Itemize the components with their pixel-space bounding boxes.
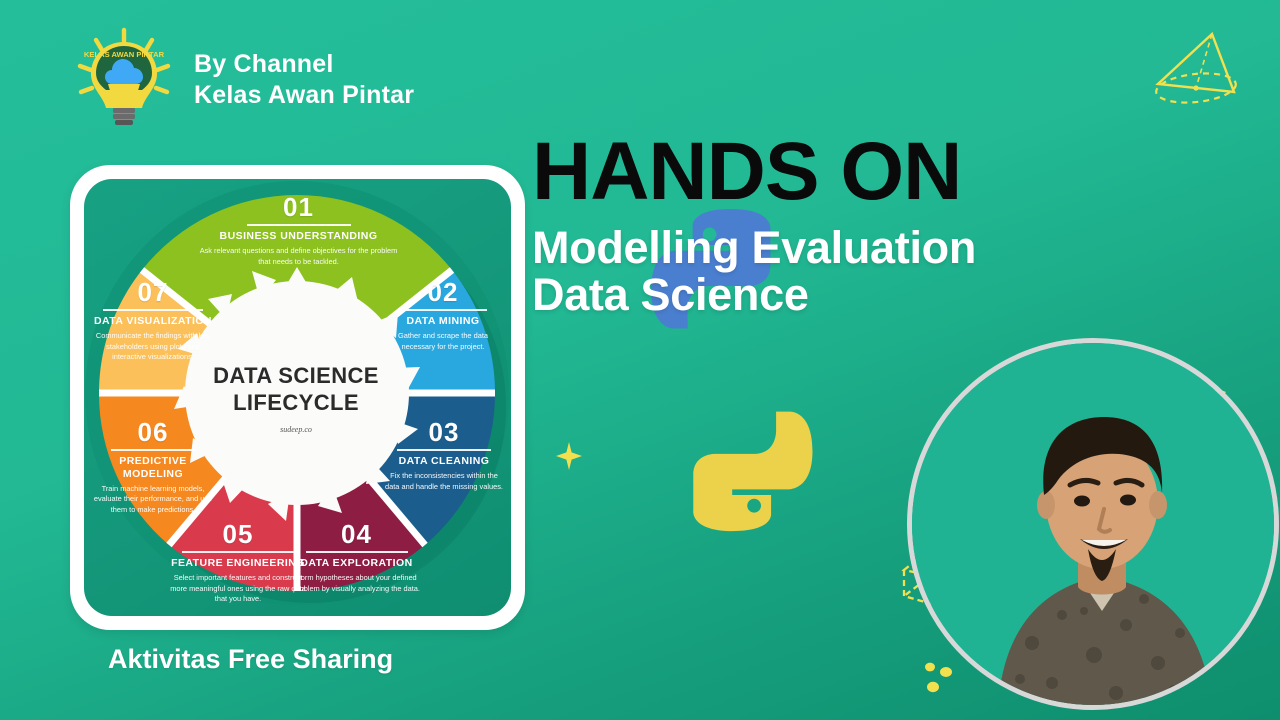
segment-description: Train machine learning models, evaluate … — [92, 484, 214, 516]
brand-line-1: By Channel — [194, 49, 414, 81]
yellow-dots-icon — [922, 660, 960, 696]
lifecycle-hub: DATA SCIENCE LIFECYCLE sudeep.co — [197, 312, 395, 484]
lifecycle-segment-05: 05 FEATURE ENGINEERING Select important … — [167, 521, 309, 605]
wireframe-cone-icon — [1142, 22, 1246, 130]
segment-divider — [399, 309, 487, 311]
segment-title: DATA MINING — [384, 315, 502, 328]
segment-divider — [103, 309, 203, 311]
segment-description: Select important features and construct … — [167, 573, 309, 605]
activity-caption: Aktivitas Free Sharing — [108, 644, 393, 675]
segment-number: 06 — [92, 419, 214, 445]
avatar — [912, 343, 1274, 705]
segment-title: FEATURE ENGINEERING — [167, 557, 309, 570]
segment-number: 04 — [289, 521, 424, 547]
segment-divider — [247, 224, 351, 226]
segment-description: Ask relevant questions and define object… — [196, 246, 401, 267]
infographic-inner-panel: 01 BUSINESS UNDERSTANDING Ask relevant q… — [84, 179, 511, 616]
segment-title: PREDICTIVE MODELING — [92, 455, 214, 481]
headline-main: HANDS ON — [532, 133, 1222, 212]
segment-description: Gather and scrape the data necessary for… — [384, 331, 502, 352]
headline-sub-line-1: Modelling Evaluation — [532, 224, 1222, 271]
segment-number: 01 — [196, 194, 401, 220]
lifecycle-segment-04: 04 DATA EXPLORATION Form hypotheses abou… — [289, 521, 424, 594]
segment-description: Fix the inconsistencies within the data … — [384, 471, 504, 492]
lifecycle-wheel: 01 BUSINESS UNDERSTANDING Ask relevant q… — [84, 179, 511, 616]
channel-branding: KELAS AWAN PINTAR By Channel Kelas Awan … — [72, 26, 414, 134]
hub-title-line-1: DATA SCIENCE — [213, 362, 379, 389]
segment-number: 05 — [167, 521, 309, 547]
hub-title-line-2: LIFECYCLE — [233, 389, 359, 416]
segment-title: BUSINESS UNDERSTANDING — [196, 230, 401, 243]
segment-number: 07 — [89, 279, 217, 305]
lifecycle-segment-06: 06 PREDICTIVE MODELING Train machine lea… — [92, 419, 214, 516]
segment-description: Form hypotheses about your defined probl… — [289, 573, 424, 594]
segment-divider — [306, 551, 408, 553]
lifecycle-segment-02: 02 DATA MINING Gather and scrape the dat… — [384, 279, 502, 352]
segment-divider — [111, 449, 195, 451]
presenter-photo-avatar — [912, 343, 1274, 705]
lifecycle-segment-03: 03 DATA CLEANING Fix the inconsistencies… — [384, 419, 504, 492]
headline-block: HANDS ON Modelling Evaluation Data Scien… — [532, 133, 1222, 318]
segment-divider — [397, 449, 491, 451]
hub-credit: sudeep.co — [280, 425, 312, 434]
headline-subtitle: Modelling Evaluation Data Science — [532, 224, 1222, 319]
headline-sub-line-2: Data Science — [532, 271, 1222, 318]
segment-number: 02 — [384, 279, 502, 305]
segment-number: 03 — [384, 419, 504, 445]
segment-divider — [182, 551, 294, 553]
data-science-lifecycle-card: 01 BUSINESS UNDERSTANDING Ask relevant q… — [70, 165, 525, 630]
lightbulb-cloud-logo-icon: KELAS AWAN PINTAR — [72, 26, 176, 134]
logo-ring-label: KELAS AWAN PINTAR — [84, 50, 165, 59]
slide-canvas: KELAS AWAN PINTAR By Channel Kelas Awan … — [0, 0, 1280, 720]
segment-title: DATA EXPLORATION — [289, 557, 424, 570]
segment-title: DATA CLEANING — [384, 455, 504, 468]
lifecycle-segment-01: 01 BUSINESS UNDERSTANDING Ask relevant q… — [196, 194, 401, 267]
brand-line-2: Kelas Awan Pintar — [194, 80, 414, 112]
